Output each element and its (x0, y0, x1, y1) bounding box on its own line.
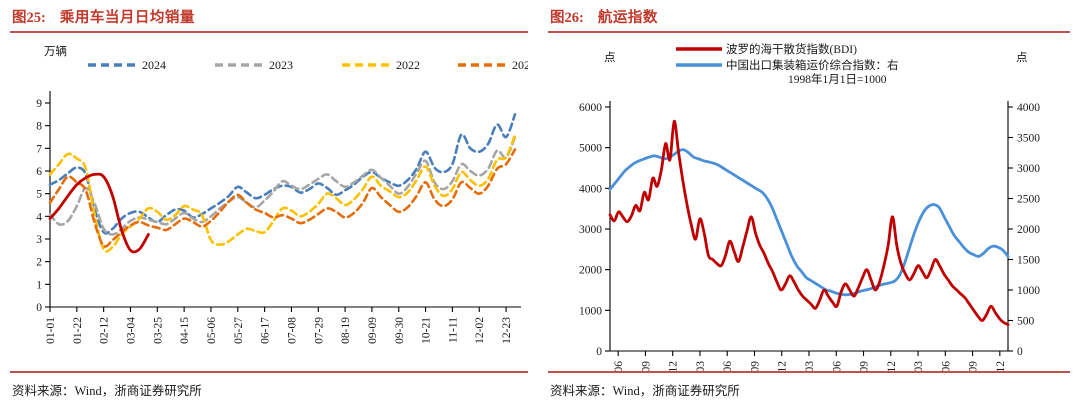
y-tick-label: 3 (36, 234, 42, 246)
legend-label-2023: 2023 (269, 58, 293, 72)
legend-item-2022: 2022 (342, 58, 420, 72)
x-tick-label: 12-02 (474, 317, 486, 344)
figure-26-title: 图26:航运指数 (548, 0, 1070, 31)
y-tick-left-label: 5000 (579, 143, 602, 155)
y-tick-label: 2 (36, 257, 42, 269)
x-tick-label: 05-27 (233, 317, 245, 344)
figure-25-chart: 万辆2024202320222021012345678901-0101-2202… (10, 35, 528, 371)
y-tick-left-label: 1000 (579, 305, 602, 317)
y-tick-label: 5 (36, 189, 42, 201)
y-tick-right-label: 1000 (1017, 285, 1040, 297)
y-tick-label: 7 (36, 143, 42, 155)
x-tick-label: 24-03 (913, 361, 925, 371)
x-tick-label: 03-04 (125, 317, 137, 344)
x-tick-label: 09-30 (394, 317, 406, 344)
figure-26-name: 航运指数 (598, 10, 658, 26)
x-tick-label: 23-12 (886, 361, 898, 371)
y-tick-left-label: 3000 (579, 224, 602, 236)
figure-25-number: 图25: (12, 10, 46, 26)
y-tick-left-label: 2000 (579, 265, 602, 277)
x-tick-label: 05-06 (206, 317, 218, 344)
figure-25-svg: 万辆2024202320222021012345678901-0101-2202… (10, 35, 528, 371)
legend-label-2021: 2021 (512, 58, 528, 72)
series-line-2021 (50, 149, 515, 246)
y-tick-label: 9 (36, 98, 42, 110)
figure-26-svg: 点点波罗的海干散货指数(BDI)中国出口集装箱运价综合指数：右1998年1月1日… (548, 35, 1070, 371)
x-tick-label: 02-12 (99, 317, 111, 344)
legend-note: 1998年1月1日=1000 (788, 72, 887, 86)
y-tick-right-label: 2500 (1017, 194, 1040, 206)
y-unit-right-label: 点 (1016, 51, 1028, 64)
y-tick-right-label: 3000 (1017, 163, 1040, 175)
figure-25-name: 乘用车当月日均销量 (60, 10, 195, 26)
y-tick-label: 8 (36, 121, 42, 133)
y-tick-right-label: 500 (1017, 316, 1035, 328)
x-tick-label: 10-21 (421, 317, 433, 344)
figure-26-source: 资料来源：Wind，浙商证券研究所 (548, 373, 1070, 399)
figures-page: 图25:乘用车当月日均销量 万辆202420232022202101234567… (0, 0, 1080, 409)
legend-label-ccfi: 中国出口集装箱运价综合指数：右 (726, 58, 899, 72)
x-tick-label: 06-17 (260, 317, 272, 344)
x-tick-label: 07-29 (313, 317, 325, 344)
legend-item-2024: 2024 (88, 58, 166, 72)
y-tick-right-label: 3500 (1017, 133, 1040, 145)
x-tick-label: 21-12 (668, 361, 680, 371)
y-tick-left-label: 0 (596, 346, 602, 358)
y-tick-right-label: 2000 (1017, 224, 1040, 236)
x-tick-label: 12-23 (501, 317, 513, 344)
legend-label-bdi: 波罗的海干散货指数(BDI) (726, 42, 857, 56)
x-tick-label: 22-03 (695, 361, 707, 371)
x-tick-label: 23-03 (804, 361, 816, 371)
figure-26-top-rule (548, 31, 1070, 33)
y-tick-right-label: 4000 (1017, 102, 1040, 114)
x-tick-label: 04-15 (179, 317, 191, 344)
x-tick-label: 21-06 (613, 361, 625, 371)
legend-label-2024: 2024 (142, 58, 166, 72)
x-tick-label: 11-11 (447, 317, 459, 343)
x-tick-label: 22-09 (749, 361, 761, 371)
figure-26-panel: 图26:航运指数 点点波罗的海干散货指数(BDI)中国出口集装箱运价综合指数：右… (540, 0, 1080, 409)
figure-25-source: 资料来源：Wind，浙商证券研究所 (10, 373, 528, 399)
x-tick-label: 24-09 (968, 361, 980, 371)
figure-25-panel: 图25:乘用车当月日均销量 万辆202420232022202101234567… (0, 0, 540, 409)
x-tick-label: 07-08 (286, 317, 298, 344)
y-tick-left-label: 4000 (579, 183, 602, 195)
figure-25-title: 图25:乘用车当月日均销量 (10, 0, 528, 31)
x-tick-label: 23-06 (831, 361, 843, 371)
y-tick-left-label: 6000 (579, 102, 602, 114)
y-tick-right-label: 0 (1017, 346, 1023, 358)
x-tick-label: 24-12 (995, 361, 1007, 371)
x-tick-label: 01-01 (45, 317, 57, 344)
y-tick-label: 6 (36, 166, 42, 178)
x-tick-label: 09-09 (367, 317, 379, 344)
y-tick-label: 0 (36, 302, 42, 314)
x-tick-label: 24-06 (940, 361, 952, 371)
x-tick-label: 22-12 (777, 361, 789, 371)
figure-26-number: 图26: (550, 10, 584, 26)
x-tick-label: 22-06 (722, 361, 734, 371)
x-tick-label: 03-25 (152, 317, 164, 344)
y-tick-label: 4 (36, 211, 42, 223)
series-line-ccfi (610, 150, 1008, 295)
y-unit-left-label: 点 (604, 51, 616, 64)
legend-label-2022: 2022 (396, 58, 420, 72)
figure-26-chart: 点点波罗的海干散货指数(BDI)中国出口集装箱运价综合指数：右1998年1月1日… (548, 35, 1070, 371)
x-tick-label: 01-22 (72, 317, 84, 344)
x-tick-label: 08-19 (340, 317, 352, 344)
y-unit-label: 万辆 (44, 44, 67, 58)
legend-item-2023: 2023 (215, 58, 293, 72)
y-tick-label: 1 (36, 279, 42, 291)
x-tick-label: 23-09 (859, 361, 871, 371)
figure-25-top-rule (10, 31, 528, 33)
y-tick-right-label: 1500 (1017, 255, 1040, 267)
legend-item-2021: 2021 (458, 58, 528, 72)
x-tick-label: 21-09 (640, 361, 652, 371)
